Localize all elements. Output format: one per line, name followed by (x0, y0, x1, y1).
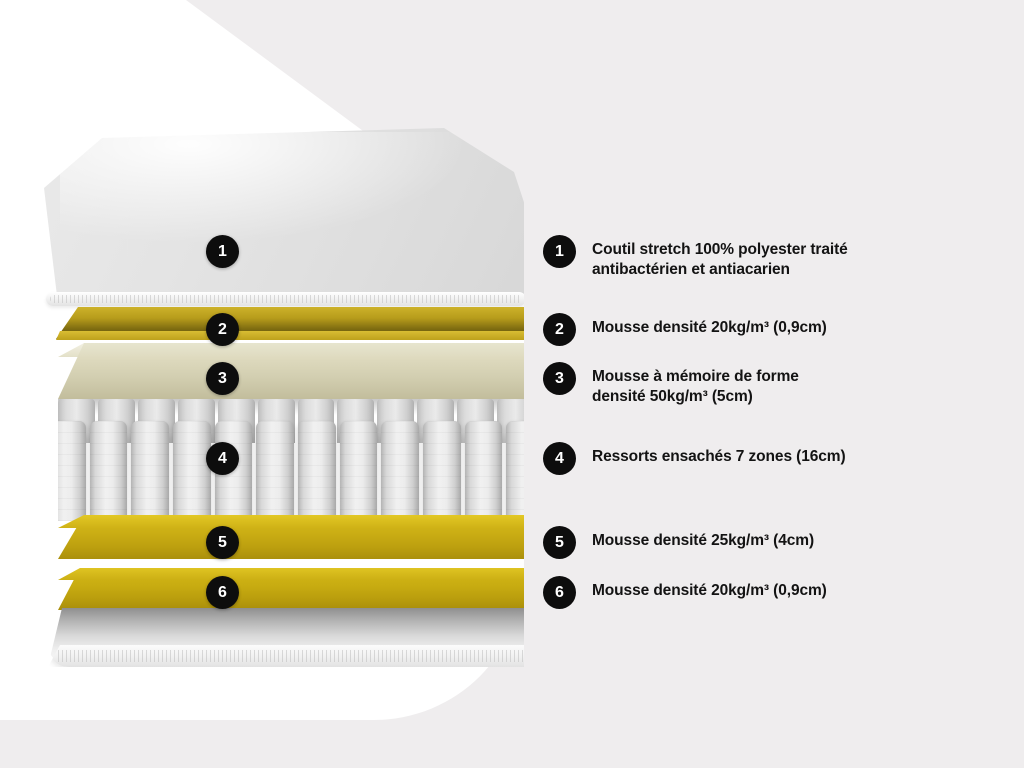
legend-label-4: Ressorts ensachés 7 zones (16cm) (592, 442, 846, 467)
legend-badge-5: 5 (543, 526, 576, 559)
legend-item-4[interactable]: 4 Ressorts ensachés 7 zones (16cm) (543, 442, 846, 475)
legend-badge-3: 3 (543, 362, 576, 395)
legend-label-5: Mousse densité 25kg/m³ (4cm) (592, 526, 814, 551)
legend-label-3: Mousse à mémoire de forme densité 50kg/m… (592, 362, 799, 407)
layer-4-pocket-springs (58, 399, 524, 521)
diagram-badge-4[interactable]: 4 (206, 442, 239, 475)
spring-unit (506, 421, 524, 521)
spring-unit (173, 421, 211, 521)
legend-label-6: Mousse densité 20kg/m³ (0,9cm) (592, 576, 827, 601)
diagram-badge-3[interactable]: 3 (206, 362, 239, 395)
diagram-badge-1[interactable]: 1 (206, 235, 239, 268)
layer-1-top-cover (44, 128, 524, 310)
spring-unit (256, 421, 294, 521)
layer-6-foam-top-face (58, 568, 524, 580)
spring-unit (298, 421, 336, 521)
legend-item-6[interactable]: 6 Mousse densité 20kg/m³ (0,9cm) (543, 576, 827, 609)
spring-unit (58, 421, 86, 521)
mattress-base-welt-trim (48, 645, 524, 667)
diagram-badge-5[interactable]: 5 (206, 526, 239, 559)
layer-2-foam-front-face (56, 331, 524, 340)
spring-unit (465, 421, 503, 521)
legend-label-1: Coutil stretch 100% polyester traité ant… (592, 235, 848, 280)
top-cover-welt-trim (46, 292, 524, 306)
legend-badge-1: 1 (543, 235, 576, 268)
diagram-badge-2[interactable]: 2 (206, 313, 239, 346)
legend-badge-2: 2 (543, 313, 576, 346)
spring-unit (90, 421, 128, 521)
legend-label-2: Mousse densité 20kg/m³ (0,9cm) (592, 313, 827, 338)
diagram-badge-6[interactable]: 6 (206, 576, 239, 609)
layer-3-memory-foam-slab (58, 343, 524, 399)
mattress-composition-infographic: 1 2 3 4 5 6 1 Coutil stretch 100% polyes… (0, 0, 1024, 768)
legend-item-2[interactable]: 2 Mousse densité 20kg/m³ (0,9cm) (543, 313, 827, 346)
legend-item-3[interactable]: 3 Mousse à mémoire de forme densité 50kg… (543, 362, 799, 407)
spring-unit (131, 421, 169, 521)
legend-badge-4: 4 (543, 442, 576, 475)
spring-unit (340, 421, 378, 521)
legend-item-5[interactable]: 5 Mousse densité 25kg/m³ (4cm) (543, 526, 814, 559)
spring-unit (423, 421, 461, 521)
spring-unit (381, 421, 419, 521)
legend-list: 1 Coutil stretch 100% polyester traité a… (543, 0, 1003, 768)
mattress-illustration: 1 2 3 4 5 6 (0, 0, 524, 700)
legend-item-1[interactable]: 1 Coutil stretch 100% polyester traité a… (543, 235, 848, 280)
springs-front-row (58, 421, 524, 521)
legend-badge-6: 6 (543, 576, 576, 609)
layer-5-foam-top-face (58, 515, 524, 528)
